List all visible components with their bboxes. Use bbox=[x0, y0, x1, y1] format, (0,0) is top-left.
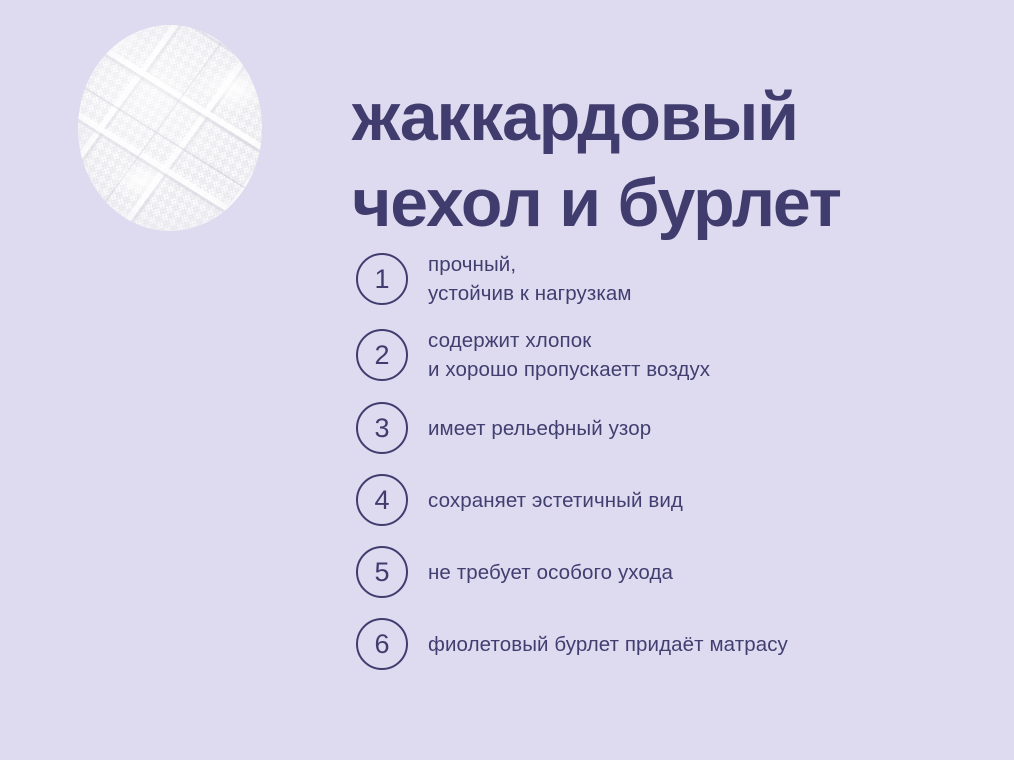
list-item: 1 прочный, устойчив к нагрузкам bbox=[356, 250, 976, 308]
slide-canvas: жаккардовый чехол и бурлет 1 прочный, ус… bbox=[0, 0, 1014, 760]
feature-text: фиолетовый бурлет придаёт матрасу bbox=[428, 630, 788, 659]
feature-list: 1 прочный, устойчив к нагрузкам 2 содерж… bbox=[356, 250, 976, 690]
feature-text: не требует особого ухода bbox=[428, 558, 673, 587]
feature-number-badge: 1 bbox=[356, 253, 408, 305]
list-item: 6 фиолетовый бурлет придаёт матрасу bbox=[356, 618, 976, 670]
feature-text: сохраняет эстетичный вид bbox=[428, 486, 683, 515]
list-item: 2 содержит хлопок и хорошо пропускаетт в… bbox=[356, 326, 976, 384]
feature-text: имеет рельефный узор bbox=[428, 414, 651, 443]
list-item: 5 не требует особого ухода bbox=[356, 546, 976, 598]
list-item: 4 сохраняет эстетичный вид bbox=[356, 474, 976, 526]
feature-number-badge: 2 bbox=[356, 329, 408, 381]
feature-number-badge: 4 bbox=[356, 474, 408, 526]
feature-number-badge: 5 bbox=[356, 546, 408, 598]
page-title: жаккардовый чехол и бурлет bbox=[352, 74, 992, 246]
fabric-vignette bbox=[78, 25, 262, 231]
feature-number-badge: 3 bbox=[356, 402, 408, 454]
jacquard-fabric-photo bbox=[78, 25, 262, 231]
feature-number-badge: 6 bbox=[356, 618, 408, 670]
list-item: 3 имеет рельефный узор bbox=[356, 402, 976, 454]
feature-text: прочный, устойчив к нагрузкам bbox=[428, 250, 632, 308]
feature-text: содержит хлопок и хорошо пропускаетт воз… bbox=[428, 326, 710, 384]
